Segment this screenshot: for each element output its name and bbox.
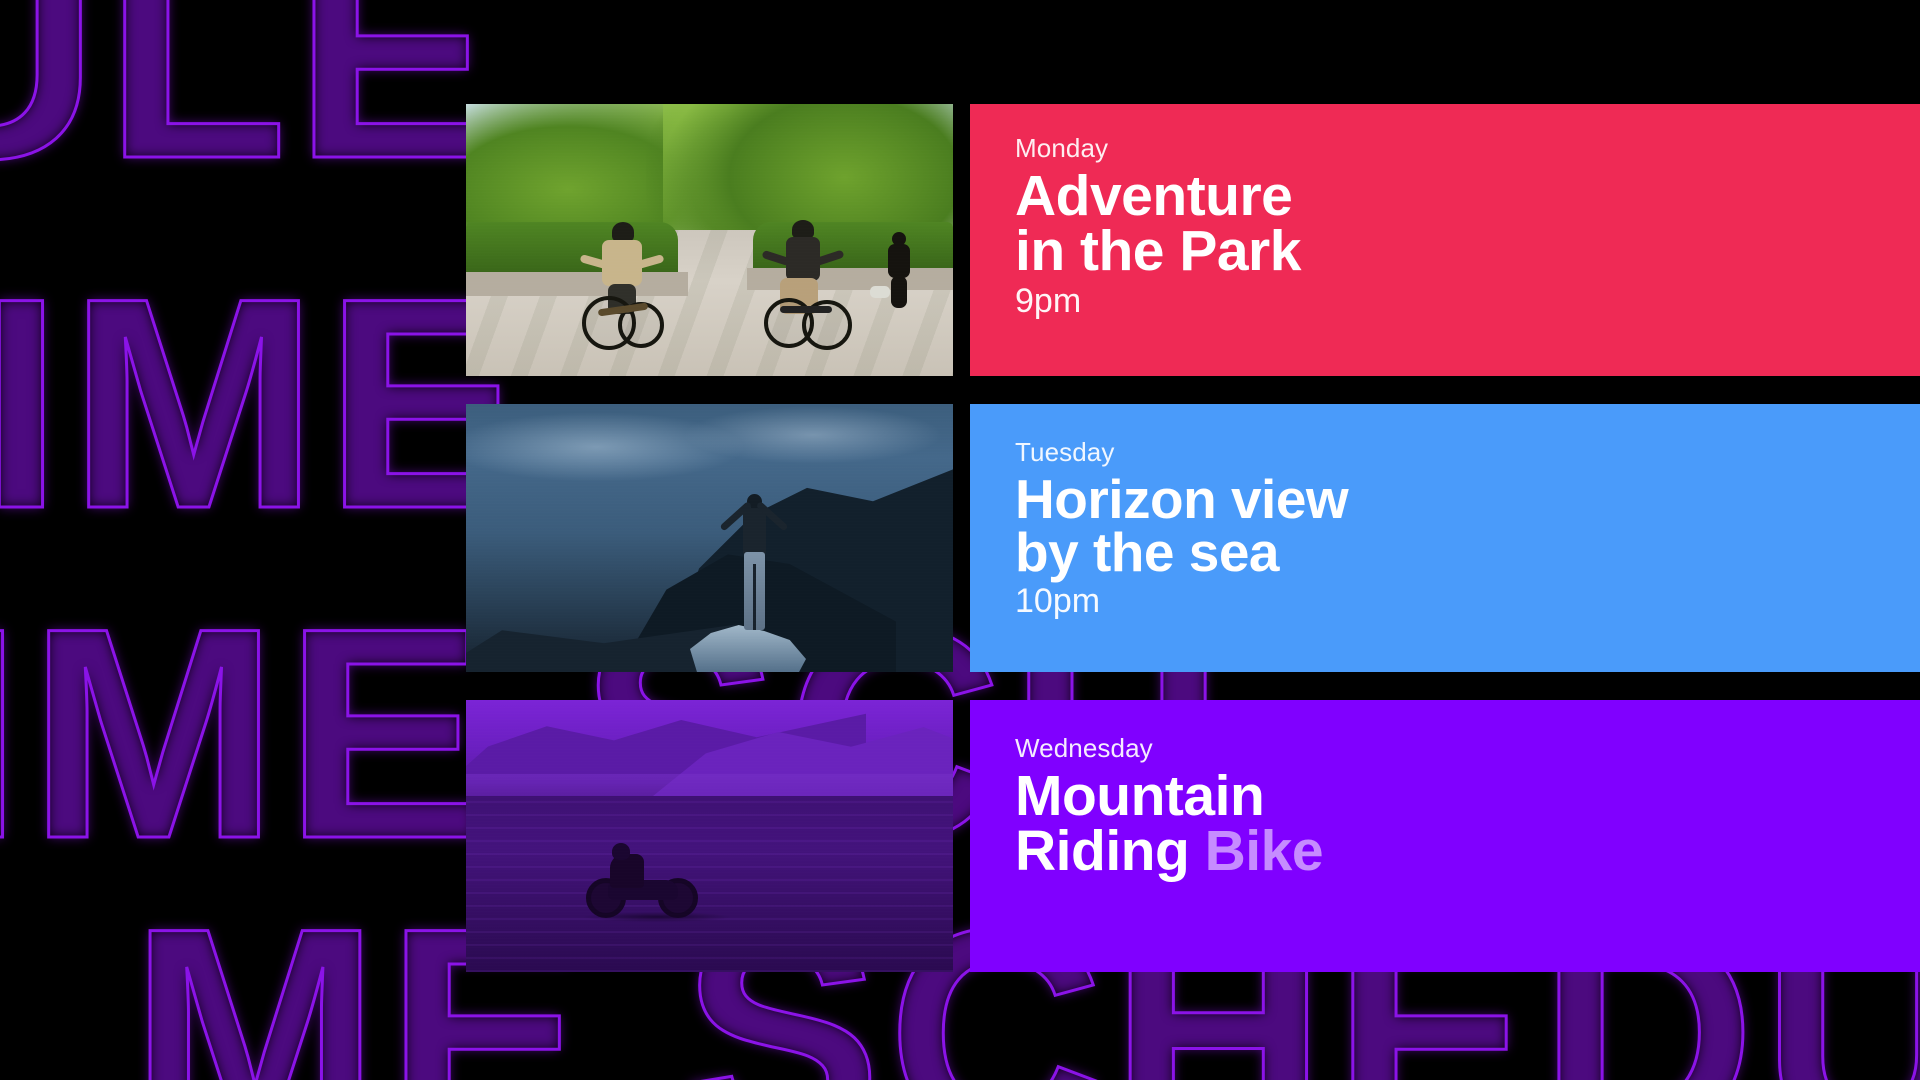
schedule-card-panel: Monday Adventure in the Park 9pm	[970, 104, 1920, 376]
schedule-card-panel: Wednesday Mountain Riding Bike	[970, 700, 1920, 972]
schedule-card-time: 10pm	[1015, 583, 1920, 620]
schedule-card-day: Monday	[1015, 134, 1920, 163]
schedule-card-title: Adventure in the Park	[1015, 169, 1920, 280]
schedule-card-title-line2: Riding	[1015, 819, 1189, 883]
desert-scene	[466, 700, 953, 972]
park-cyclists-photo	[466, 104, 953, 376]
desert-motorcycle-photo	[466, 700, 953, 972]
schedule-card-panel: Tuesday Horizon view by the sea 10pm	[970, 404, 1920, 672]
schedule-card-time: 9pm	[1015, 283, 1920, 320]
schedule-card-title-accent: Bike	[1189, 819, 1323, 883]
schedule-card-title: Mountain Riding Bike	[1015, 769, 1920, 880]
schedule-card-title-line2: by the sea	[1015, 521, 1279, 583]
schedule-card-list: Monday Adventure in the Park 9pm	[0, 0, 1920, 1080]
park-scene	[466, 104, 953, 376]
schedule-card-title: Horizon view by the sea	[1015, 473, 1920, 580]
schedule-card-title-line2: in the Park	[1015, 219, 1301, 283]
schedule-card-day: Wednesday	[1015, 734, 1920, 763]
schedule-card[interactable]: Monday Adventure in the Park 9pm	[466, 104, 1920, 376]
cliff-scene	[466, 404, 953, 672]
schedule-card-day: Tuesday	[1015, 438, 1920, 467]
cliff-sunrise-photo	[466, 404, 953, 672]
schedule-screen: D ULE TIME TIME SCH ME SCHEDULE	[0, 0, 1920, 1080]
schedule-card[interactable]: Wednesday Mountain Riding Bike	[466, 700, 1920, 972]
schedule-card[interactable]: Tuesday Horizon view by the sea 10pm	[466, 404, 1920, 672]
